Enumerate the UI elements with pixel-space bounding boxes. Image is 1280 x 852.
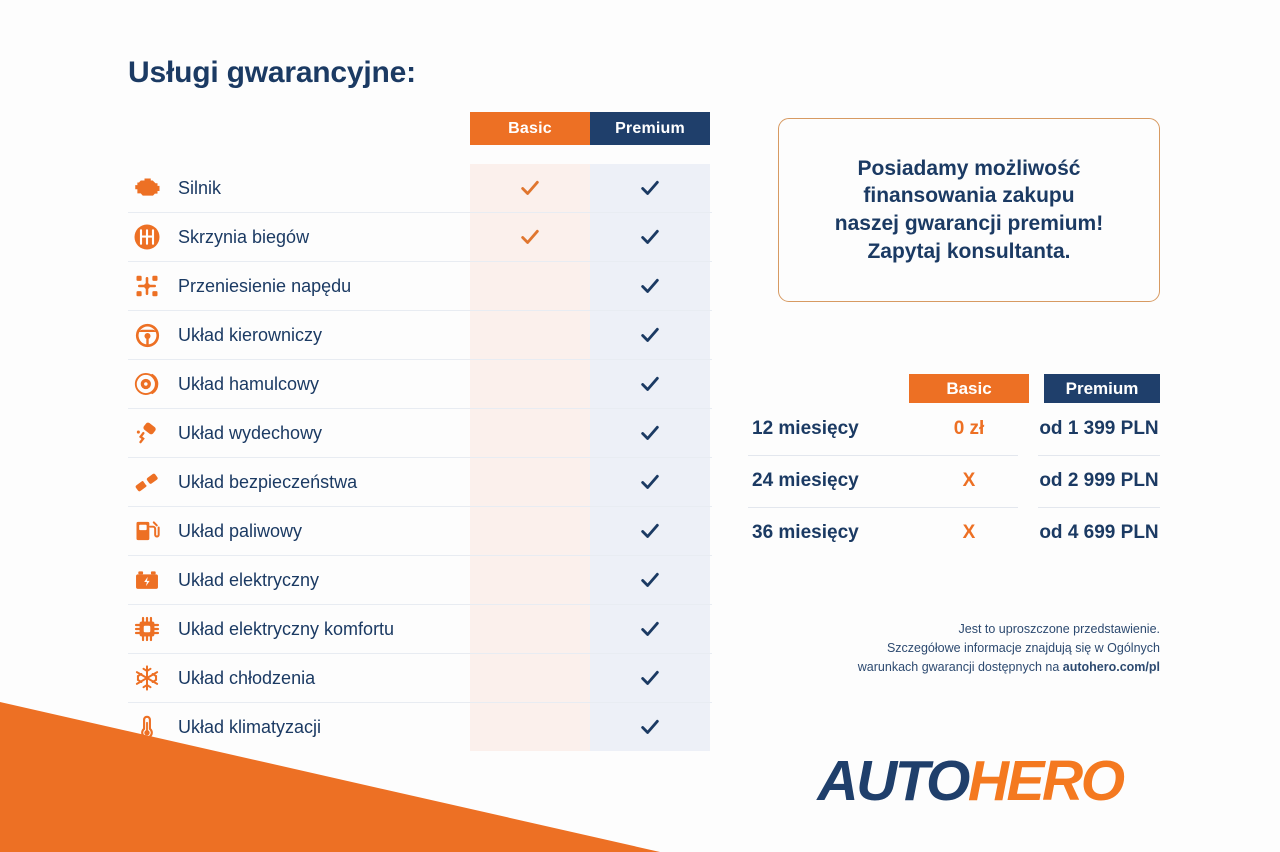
disclaimer-website-link[interactable]: autohero.com/pl [1063, 660, 1160, 674]
cell-premium [590, 556, 710, 604]
pricing-term: 36 miesięcy [748, 507, 909, 559]
cell-basic [470, 458, 590, 506]
cell-basic [470, 703, 590, 751]
cell-basic [470, 605, 590, 653]
service-label: Układ kierowniczy [178, 325, 322, 346]
cell-premium [590, 703, 710, 751]
cell-basic [470, 556, 590, 604]
cell-premium [590, 360, 710, 408]
microchip-icon [130, 612, 164, 646]
promo-line-3: naszej gwarancji premium! [835, 212, 1103, 235]
financing-promo-text: Posiadamy możliwość finansowania zakupu … [821, 155, 1117, 266]
cell-premium [590, 164, 710, 212]
table-row: Układ paliwowy [128, 506, 712, 555]
service-label: Układ wydechowy [178, 423, 322, 444]
services-table: Basic Premium SilnikSkrzynia biegówPrzen… [128, 112, 712, 751]
brake-disc-icon [130, 367, 164, 401]
car-battery-icon [130, 563, 164, 597]
cell-basic [470, 360, 590, 408]
promo-line-4: Zapytaj konsultanta. [867, 240, 1070, 263]
table-row: Układ elektryczny [128, 555, 712, 604]
cell-basic [470, 164, 590, 212]
service-label: Układ bezpieczeństwa [178, 472, 357, 493]
disclaimer-line-3-prefix: warunkach gwarancji dostępnych na [858, 660, 1063, 674]
disclaimer-line-1: Jest to uproszczone przedstawienie. [959, 622, 1161, 636]
drivetrain-axle-icon [130, 269, 164, 303]
pricing-value-premium: od 2 999 PLN [1038, 455, 1160, 507]
cell-basic [470, 311, 590, 359]
cell-premium [590, 507, 710, 555]
logo-text-auto: AUTO [817, 749, 967, 813]
column-header-premium: Premium [590, 112, 710, 145]
cell-premium [590, 213, 710, 261]
snowflake-icon [130, 661, 164, 695]
cell-basic [470, 262, 590, 310]
pricing-header-premium: Premium [1044, 374, 1160, 403]
cell-basic [470, 409, 590, 457]
fuel-pump-icon [130, 514, 164, 548]
table-row: Układ hamulcowy [128, 359, 712, 408]
logo-text-hero: HERO [968, 749, 1123, 813]
table-row: Układ elektryczny komfortu [128, 604, 712, 653]
table-row: Skrzynia biegów [128, 212, 712, 261]
engine-icon [130, 171, 164, 205]
promo-line-1: Posiadamy możliwość [858, 157, 1081, 180]
autohero-logo: AUTOHERO [760, 748, 1180, 814]
poster-canvas: Usługi gwarancyjne: Basic Premium Silnik… [0, 0, 1280, 852]
disclaimer-line-2: Szczegółowe informacje znajdują się w Og… [887, 641, 1160, 655]
table-row: Przeniesienie napędu [128, 261, 712, 310]
pricing-value-premium: od 1 399 PLN [1038, 403, 1160, 455]
pricing-row: 12 miesięcy0 złod 1 399 PLN [748, 403, 1160, 455]
pricing-table: Basic Premium 12 miesięcy0 złod 1 399 PL… [748, 374, 1160, 559]
disclaimer-text: Jest to uproszczone przedstawienie. Szcz… [748, 620, 1160, 677]
pricing-value-basic: X [909, 507, 1029, 559]
cell-basic [470, 654, 590, 702]
service-label: Układ elektryczny komfortu [178, 619, 394, 640]
services-rows: SilnikSkrzynia biegówPrzeniesienie napęd… [128, 112, 712, 751]
service-label: Układ paliwowy [178, 521, 302, 542]
gearbox-icon [130, 220, 164, 254]
service-label: Układ hamulcowy [178, 374, 319, 395]
table-row: Układ klimatyzacji [128, 702, 712, 751]
pricing-value-basic: X [909, 455, 1029, 507]
pricing-row: 24 miesięcyXod 2 999 PLN [748, 455, 1160, 507]
cell-basic [470, 507, 590, 555]
cell-premium [590, 458, 710, 506]
cell-premium [590, 605, 710, 653]
pricing-value-premium: od 4 699 PLN [1038, 507, 1160, 559]
service-label: Układ chłodzenia [178, 668, 315, 689]
service-label: Układ elektryczny [178, 570, 319, 591]
column-header-basic: Basic [470, 112, 590, 145]
pricing-term: 12 miesięcy [748, 403, 909, 455]
exhaust-muffler-icon [130, 416, 164, 450]
cell-premium [590, 654, 710, 702]
pricing-header-row: Basic Premium [748, 374, 1160, 403]
service-label: Silnik [178, 178, 221, 199]
cell-premium [590, 262, 710, 310]
cell-premium [590, 409, 710, 457]
services-section: Usługi gwarancyjne: Basic Premium Silnik… [128, 56, 712, 751]
service-label: Układ klimatyzacji [178, 717, 321, 738]
thermometer-icon [130, 710, 164, 744]
pricing-term: 24 miesięcy [748, 455, 909, 507]
seatbelt-buckle-icon [130, 465, 164, 499]
pricing-value-basic: 0 zł [909, 403, 1029, 455]
service-label: Skrzynia biegów [178, 227, 309, 248]
cell-basic [470, 213, 590, 261]
pricing-rows: 12 miesięcy0 złod 1 399 PLN24 miesięcyXo… [748, 403, 1160, 559]
table-row: Układ wydechowy [128, 408, 712, 457]
table-row: Układ bezpieczeństwa [128, 457, 712, 506]
table-row: Układ chłodzenia [128, 653, 712, 702]
steering-wheel-icon [130, 318, 164, 352]
promo-line-2: finansowania zakupu [863, 184, 1074, 207]
table-row: Układ kierowniczy [128, 310, 712, 359]
cell-premium [590, 311, 710, 359]
page-title: Usługi gwarancyjne: [128, 56, 712, 90]
financing-promo-box: Posiadamy możliwość finansowania zakupu … [778, 118, 1160, 302]
service-label: Przeniesienie napędu [178, 276, 351, 297]
table-row: Silnik [128, 164, 712, 212]
pricing-row: 36 miesięcyXod 4 699 PLN [748, 507, 1160, 559]
pricing-header-basic: Basic [909, 374, 1029, 403]
